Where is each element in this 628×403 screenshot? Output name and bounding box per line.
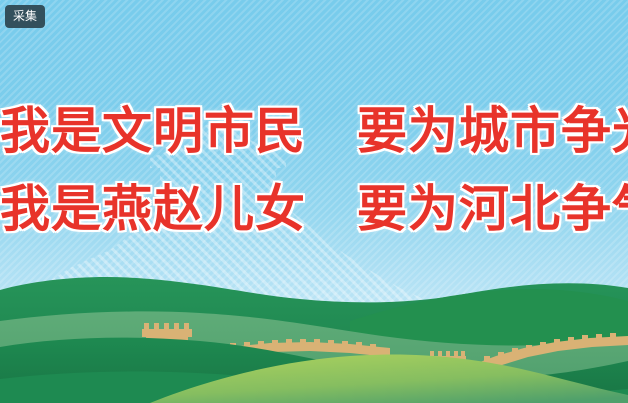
capture-button[interactable]: 采集 [5,5,45,28]
poster-image: 我是文明市民 要为城市争光 我是燕赵儿女 要为河北争气 采集 [0,0,628,403]
poster-headline: 我是文明市民 要为城市争光 我是燕赵儿女 要为河北争气 [0,92,628,248]
headline-line-1: 我是文明市民 要为城市争光 [0,92,628,170]
landscape-hills [0,243,628,403]
headline-line-2: 我是燕赵儿女 要为河北争气 [0,170,628,248]
